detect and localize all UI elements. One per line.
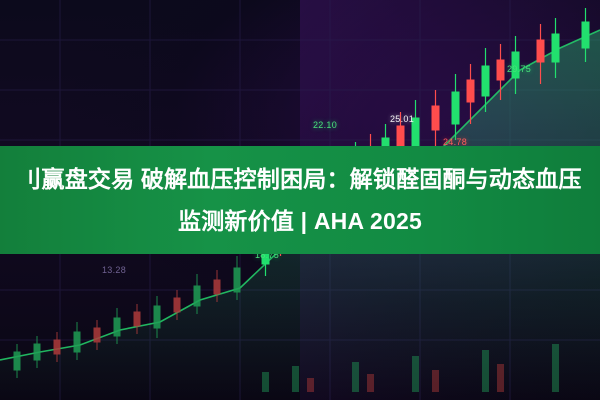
headline-text-block: 刂赢盘交易 破解血压控制困局：解锁醛固酮与动态血压 监测新价值 | AHA 20… bbox=[0, 146, 600, 254]
chart-label-25-01: 25.01 bbox=[390, 114, 414, 124]
headline-line-1: 刂赢盘交易 破解血压控制困局：解锁醛固酮与动态血压 bbox=[0, 158, 600, 200]
headline-line-2: 监测新价值 | AHA 2025 bbox=[178, 200, 422, 242]
chart-label-22-10: 22.10 bbox=[313, 120, 337, 130]
chart-label-13-28: 13.28 bbox=[102, 265, 126, 275]
image-canvas: 22.10 25.01 24.78 29.75 18.75 13.28 10.0… bbox=[0, 0, 600, 400]
chart-label-29-75: 29.75 bbox=[507, 64, 531, 74]
